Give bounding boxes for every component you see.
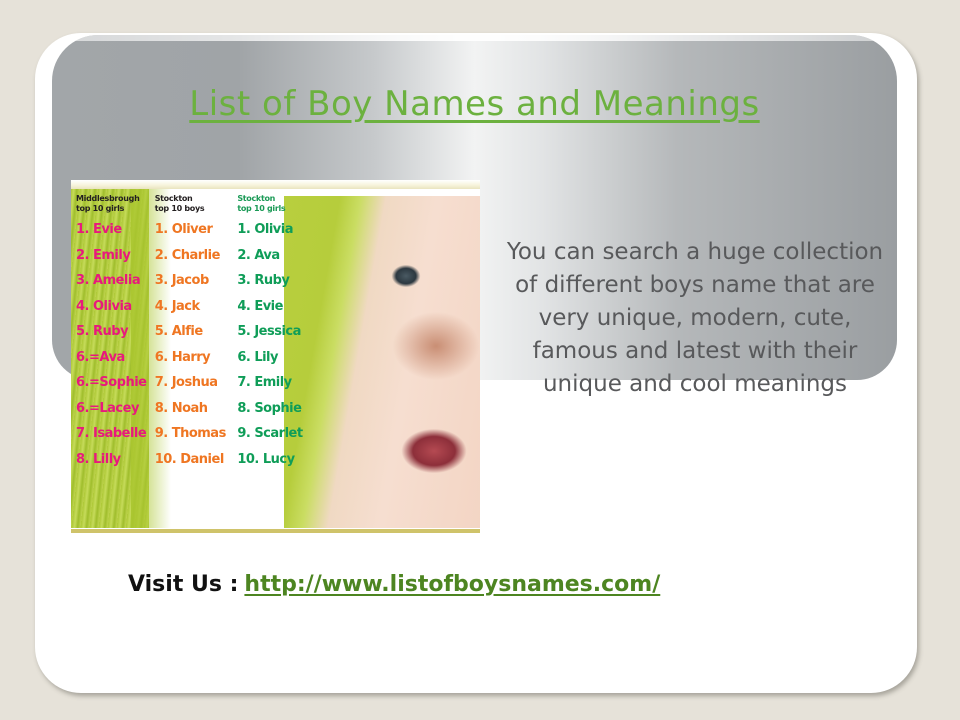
names-list: 1. Evie 2. Emily 3. Amelia 4. Olivia 5. … (76, 217, 155, 472)
list-item: 3. Jacob (155, 268, 238, 294)
column-heading-line1: Stockton (237, 194, 316, 204)
list-item: 5. Alfie (155, 319, 238, 345)
baby-names-chart-photo: Middlesbrough top 10 girls 1. Evie 2. Em… (71, 180, 480, 545)
list-item: 9. Thomas (155, 421, 238, 447)
list-item: 7. Isabelle (76, 421, 155, 447)
names-column-stockton-girls: Stockton top 10 girls 1. Olivia 2. Ava 3… (237, 194, 316, 472)
list-item: 4. Evie (237, 294, 316, 320)
list-item: 2. Charlie (155, 243, 238, 269)
column-heading: Middlesbrough top 10 girls (76, 194, 155, 214)
list-item: 10. Lucy (237, 447, 316, 473)
column-heading-line2: top 10 girls (237, 204, 316, 214)
column-heading-line1: Stockton (155, 194, 238, 204)
list-item: 8. Lilly (76, 447, 155, 473)
visit-us-label: Visit Us : (128, 572, 238, 597)
list-item: 4. Jack (155, 294, 238, 320)
column-heading: Stockton top 10 girls (237, 194, 316, 214)
slide-stage: List of Boy Names and Meanings Middlesbr… (0, 0, 960, 720)
picture-bottom-rule (71, 529, 480, 533)
list-item: 5. Ruby (76, 319, 155, 345)
list-item: 10. Daniel (155, 447, 238, 473)
page-title: List of Boy Names and Meanings (52, 84, 897, 124)
names-list: 1. Olivia 2. Ava 3. Ruby 4. Evie 5. Jess… (237, 217, 316, 472)
picture-top-rule (71, 180, 480, 189)
list-item: 7. Emily (237, 370, 316, 396)
list-item: 6. Harry (155, 345, 238, 371)
column-heading-line2: top 10 boys (155, 204, 238, 214)
list-item: 2. Emily (76, 243, 155, 269)
list-item: 4. Olivia (76, 294, 155, 320)
list-item: 1. Evie (76, 217, 155, 243)
list-item: 3. Ruby (237, 268, 316, 294)
list-item: 5. Jessica (237, 319, 316, 345)
list-item: 2. Ava (237, 243, 316, 269)
names-columns: Middlesbrough top 10 girls 1. Evie 2. Em… (76, 194, 316, 472)
list-item: 3. Amelia (76, 268, 155, 294)
list-item: 8. Sophie (237, 396, 316, 422)
column-heading-line2: top 10 girls (76, 204, 155, 214)
list-item: 1. Oliver (155, 217, 238, 243)
list-item: 6. Lily (237, 345, 316, 371)
list-item: 1. Olivia (237, 217, 316, 243)
names-column-middlesbrough-girls: Middlesbrough top 10 girls 1. Evie 2. Em… (76, 194, 155, 472)
list-item: 6.=Lacey (76, 396, 155, 422)
visit-us-line: Visit Us :http://www.listofboysnames.com… (128, 572, 660, 597)
description-text: You can search a huge collection of diff… (500, 236, 890, 401)
website-link[interactable]: http://www.listofboysnames.com/ (244, 572, 660, 597)
names-list: 1. Oliver 2. Charlie 3. Jacob 4. Jack 5.… (155, 217, 238, 472)
column-heading: Stockton top 10 boys (155, 194, 238, 214)
list-item: 7. Joshua (155, 370, 238, 396)
list-item: 8. Noah (155, 396, 238, 422)
picture-inner: Middlesbrough top 10 girls 1. Evie 2. Em… (71, 180, 480, 545)
names-column-stockton-boys: Stockton top 10 boys 1. Oliver 2. Charli… (155, 194, 238, 472)
column-heading-line1: Middlesbrough (76, 194, 155, 204)
list-item: 6.=Sophie (76, 370, 155, 396)
list-item: 9. Scarlet (237, 421, 316, 447)
list-item: 6.=Ava (76, 345, 155, 371)
